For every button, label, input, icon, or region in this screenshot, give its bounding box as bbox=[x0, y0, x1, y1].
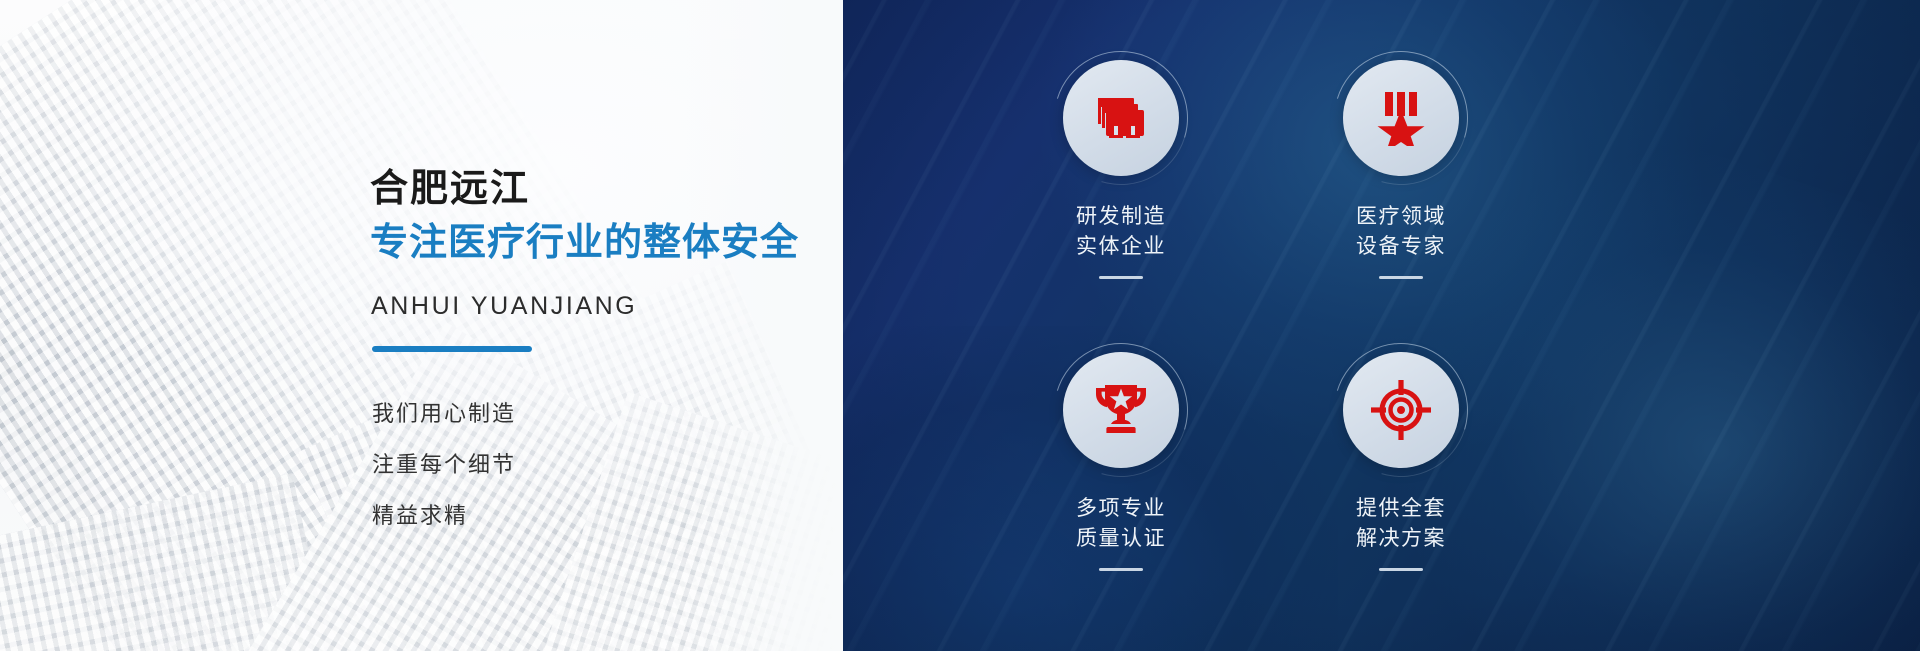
medal-star-icon bbox=[1376, 90, 1426, 146]
icon-container bbox=[1063, 60, 1179, 176]
feature-item-full-solution[interactable]: 提供全套 解决方案 bbox=[1271, 352, 1531, 571]
target-crosshair-icon bbox=[1371, 380, 1431, 440]
icon-disc bbox=[1063, 60, 1179, 176]
feature-label-line1: 医疗领域 bbox=[1356, 205, 1446, 228]
feature-underline bbox=[1099, 276, 1143, 279]
feature-item-medical-expert[interactable]: 医疗领域 设备专家 bbox=[1271, 60, 1531, 279]
feature-label-line2: 设备专家 bbox=[1271, 232, 1531, 262]
feature-label: 提供全套 解决方案 bbox=[1271, 494, 1531, 555]
company-tagline-title: 专注医疗行业的整体安全 bbox=[370, 222, 799, 266]
feature-label-line2: 实体企业 bbox=[991, 232, 1251, 262]
feature-label-line1: 研发制造 bbox=[1076, 205, 1166, 228]
feature-item-research-manufacturing[interactable]: 研发制造 实体企业 bbox=[991, 60, 1251, 279]
feature-label: 医疗领域 设备专家 bbox=[1271, 202, 1531, 263]
feature-label-line1: 提供全套 bbox=[1356, 497, 1446, 520]
factory-icon bbox=[1092, 94, 1150, 142]
subline-2: 注重每个细节 bbox=[372, 447, 516, 479]
right-panel: 研发制造 实体企业 bbox=[843, 0, 1920, 651]
company-name-pinyin: ANHUI YUANJIANG bbox=[371, 292, 637, 321]
hero-banner: 合肥远江 专注医疗行业的整体安全 ANHUI YUANJIANG 我们用心制造 … bbox=[0, 0, 1920, 651]
company-name-title: 合肥远江 bbox=[370, 168, 530, 212]
feature-underline bbox=[1379, 276, 1423, 279]
feature-item-quality-certification[interactable]: 多项专业 质量认证 bbox=[991, 352, 1251, 571]
icon-disc bbox=[1343, 60, 1459, 176]
feature-underline bbox=[1379, 568, 1423, 571]
left-panel: 合肥远江 专注医疗行业的整体安全 ANHUI YUANJIANG 我们用心制造 … bbox=[0, 0, 843, 651]
icon-container bbox=[1343, 60, 1459, 176]
accent-divider bbox=[372, 346, 532, 352]
left-text-block: 合肥远江 专注医疗行业的整体安全 ANHUI YUANJIANG 我们用心制造 … bbox=[370, 0, 810, 651]
icon-container bbox=[1063, 352, 1179, 468]
feature-underline bbox=[1099, 568, 1143, 571]
feature-label: 多项专业 质量认证 bbox=[991, 494, 1251, 555]
icon-container bbox=[1343, 352, 1459, 468]
feature-label-line2: 解决方案 bbox=[1271, 524, 1531, 554]
feature-label-line1: 多项专业 bbox=[1076, 497, 1166, 520]
feature-label-line2: 质量认证 bbox=[991, 524, 1251, 554]
feature-label: 研发制造 实体企业 bbox=[991, 202, 1251, 263]
feature-grid: 研发制造 实体企业 bbox=[843, 0, 1920, 651]
subline-1: 我们用心制造 bbox=[372, 396, 516, 428]
icon-disc bbox=[1063, 352, 1179, 468]
trophy-icon bbox=[1092, 382, 1150, 438]
icon-disc bbox=[1343, 352, 1459, 468]
subline-3: 精益求精 bbox=[372, 498, 468, 530]
